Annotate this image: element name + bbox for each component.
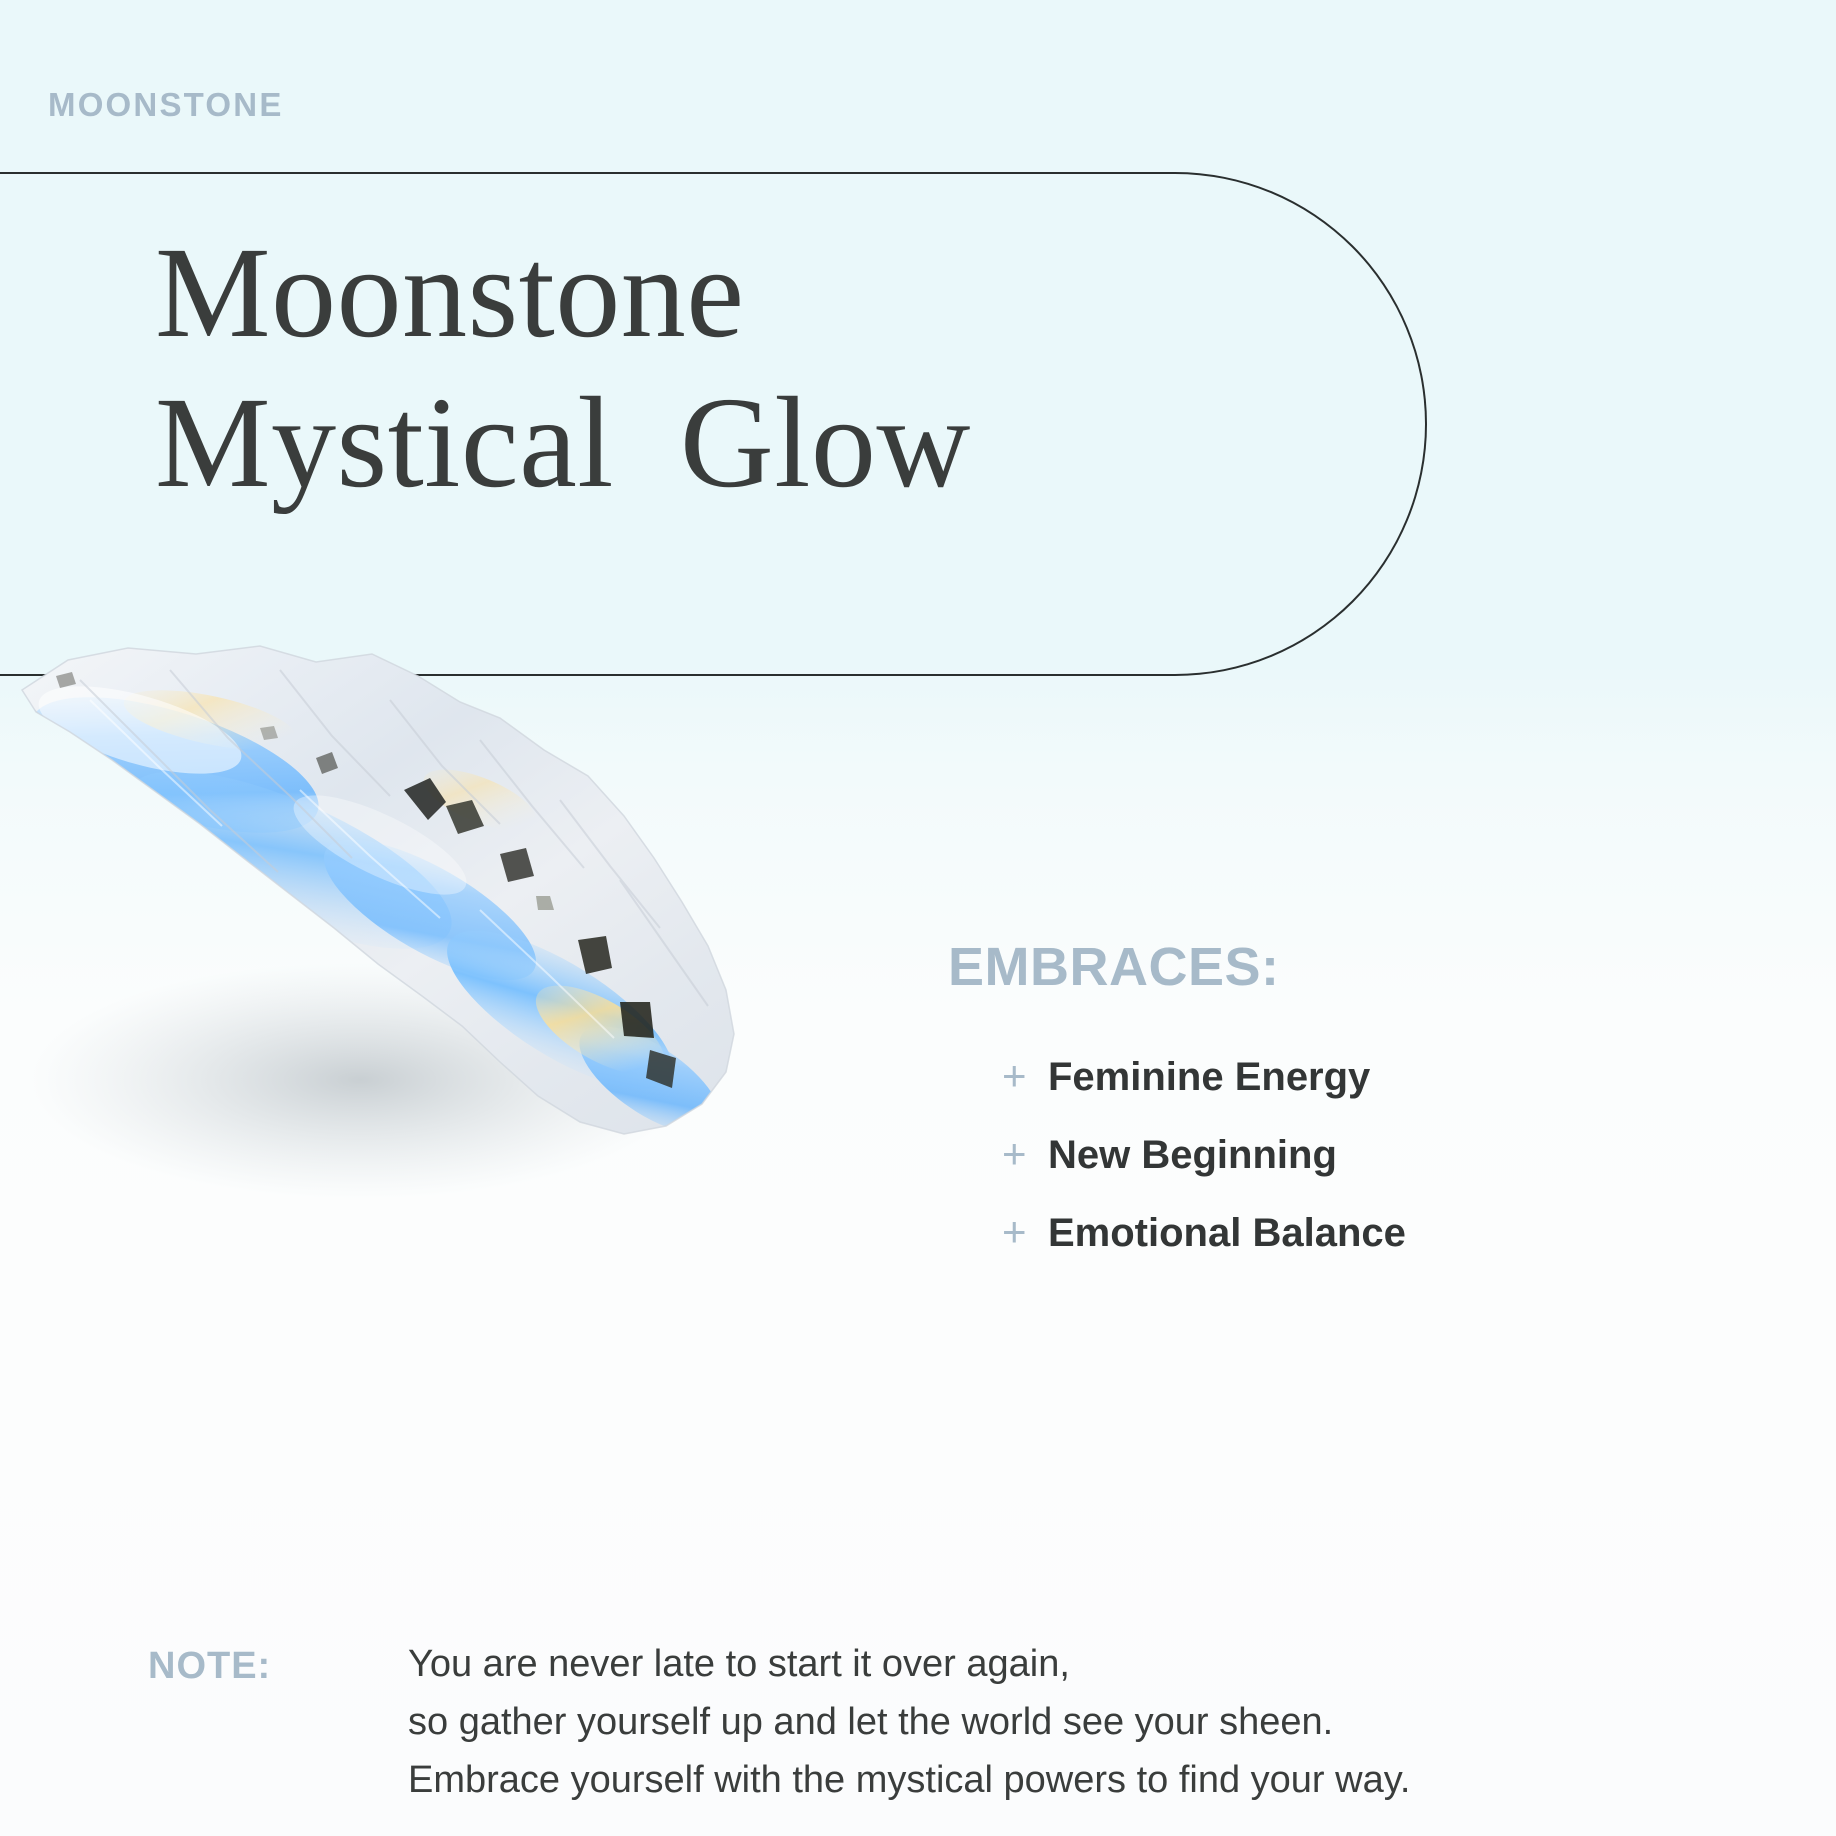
note-body: You are never late to start it over agai…: [408, 1636, 1410, 1809]
embraces-item-label: Emotional Balance: [1048, 1211, 1406, 1256]
moonstone-infographic: MOONSTONE Moonstone Mystical Glow: [0, 0, 1836, 1836]
eyebrow-label: MOONSTONE: [48, 88, 284, 121]
title-line-2: Mystical Glow: [155, 368, 1305, 518]
embraces-heading: EMBRACES:: [948, 940, 1600, 994]
plus-icon: +: [1002, 1130, 1048, 1177]
embraces-section: EMBRACES: + Feminine Energy + New Beginn…: [900, 940, 1600, 1285]
moonstone-crystal-image: [0, 610, 820, 1230]
moonstone-crystal-svg: [0, 610, 820, 1230]
list-item: + New Beginning: [1002, 1130, 1600, 1178]
note-section: NOTE: You are never late to start it ove…: [148, 1636, 1788, 1809]
page-title: Moonstone Mystical Glow: [155, 218, 1305, 518]
plus-icon: +: [1002, 1052, 1048, 1099]
note-label: NOTE:: [148, 1636, 408, 1695]
embraces-item-label: New Beginning: [1048, 1133, 1337, 1178]
list-item: + Emotional Balance: [1002, 1208, 1600, 1256]
plus-icon: +: [1002, 1208, 1048, 1255]
list-item: + Feminine Energy: [1002, 1052, 1600, 1100]
embraces-list: + Feminine Energy + New Beginning + Emot…: [1002, 1052, 1600, 1255]
title-line-1: Moonstone: [155, 218, 1305, 368]
embraces-item-label: Feminine Energy: [1048, 1055, 1370, 1100]
